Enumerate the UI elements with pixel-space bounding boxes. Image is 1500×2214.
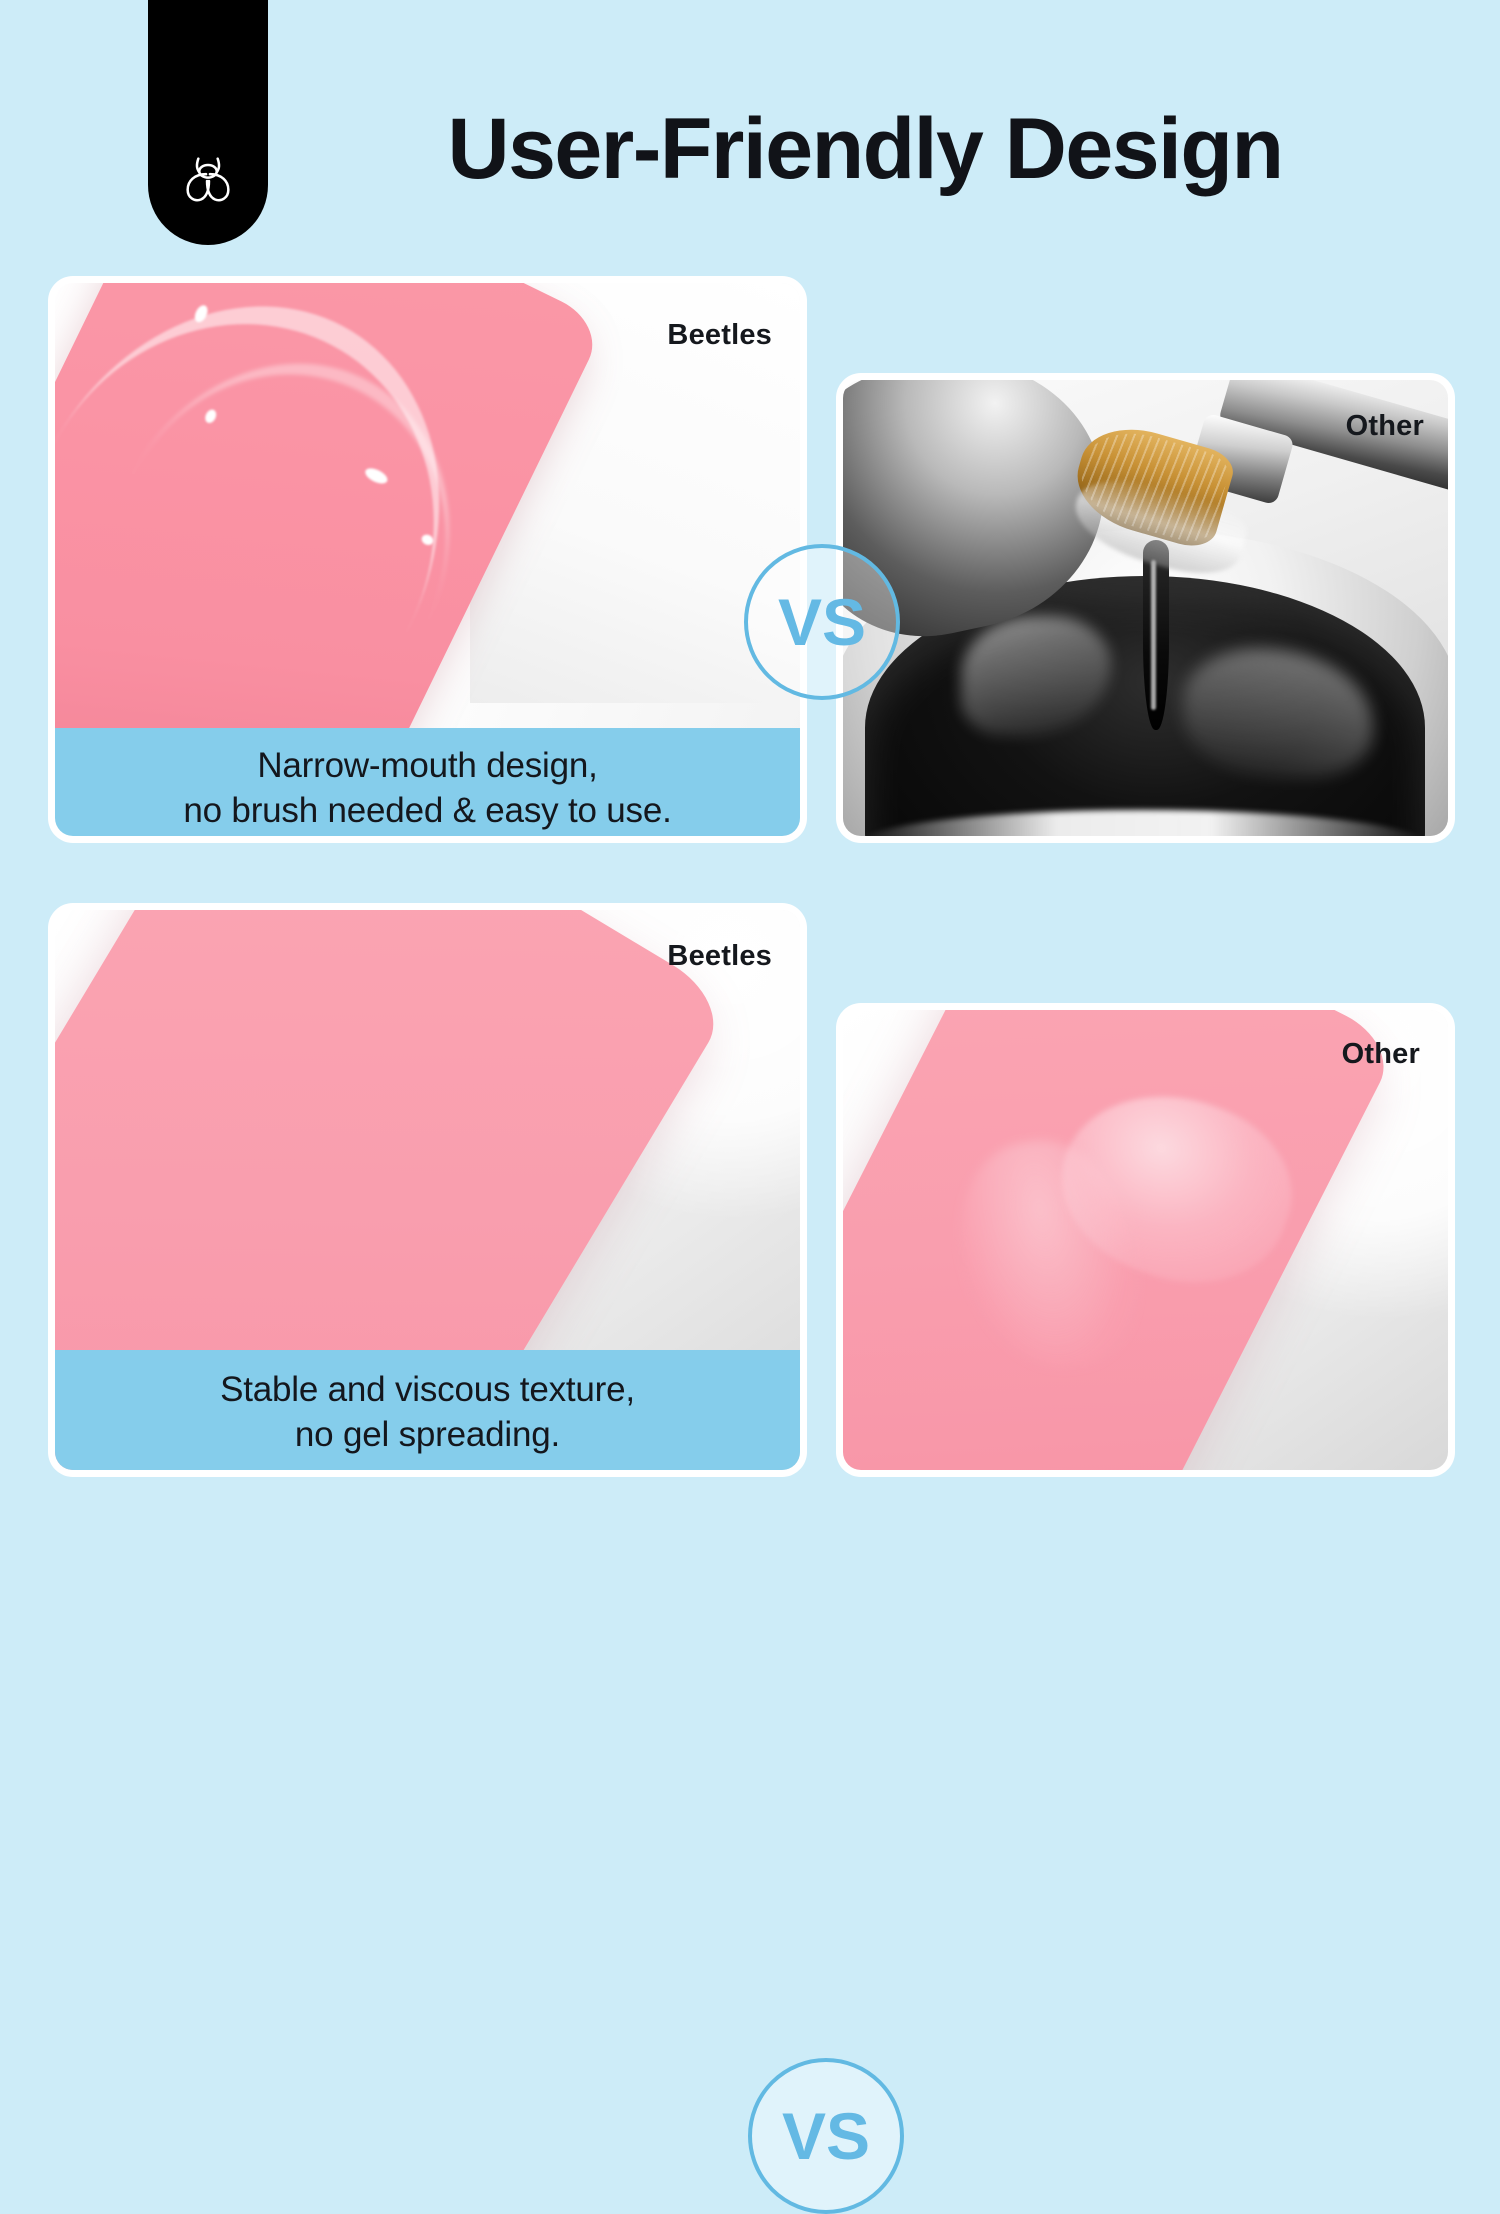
panel-label-other-1: Other <box>1346 410 1424 443</box>
panel-label-other-2: Other <box>1342 1038 1420 1071</box>
beetle-icon <box>177 149 239 211</box>
beetles-panel-1[interactable]: Beetles Narrow-mouth design, no brush ne… <box>55 283 800 836</box>
other-photo-1 <box>843 380 1448 836</box>
panel-label-beetles-1: Beetles <box>667 319 772 352</box>
page-header: User-Friendly Design <box>0 0 1500 270</box>
caption-bar-2: Stable and viscous texture, no gel sprea… <box>55 1350 800 1470</box>
beetles-panel-2[interactable]: Beetles Stable and viscous texture, no g… <box>55 910 800 1470</box>
caption-line-2: no gel spreading. <box>55 1413 800 1458</box>
caption-line-1: Narrow-mouth design, <box>55 744 800 789</box>
brand-logo-tab <box>148 0 268 245</box>
panel-label-beetles-2: Beetles <box>667 940 772 973</box>
caption-line-2: no brush needed & easy to use. <box>55 789 800 834</box>
other-photo-2 <box>843 1010 1448 1470</box>
comparison-row-1: Beetles Narrow-mouth design, no brush ne… <box>0 283 1500 843</box>
caption-line-1: Stable and viscous texture, <box>55 1368 800 1413</box>
other-panel-1[interactable]: Other <box>843 380 1448 836</box>
caption-bar-1: Narrow-mouth design, no brush needed & e… <box>55 728 800 836</box>
comparison-row-2: Beetles Stable and viscous texture, no g… <box>0 910 1500 1475</box>
page-title: User-Friendly Design <box>300 106 1430 192</box>
other-panel-2[interactable]: Other <box>843 1010 1448 1470</box>
vs-badge-2: VS <box>748 2058 904 2214</box>
vs-badge-1: VS <box>744 544 900 700</box>
